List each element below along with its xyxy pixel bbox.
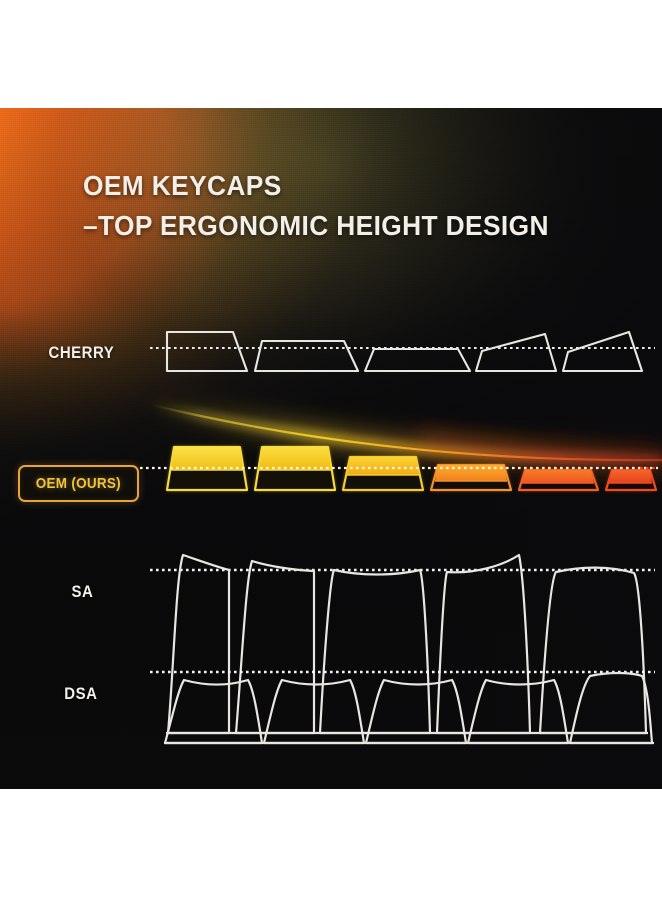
row-label-sa: SA xyxy=(71,582,93,602)
keycap-sa-5 xyxy=(540,568,646,733)
row-label-cherry: CHERRY xyxy=(48,343,114,363)
keycap-sa-1 xyxy=(168,555,229,733)
keycap-oem-3 xyxy=(343,457,423,490)
keycap-sa-2 xyxy=(236,561,314,733)
keycap-oem-5 xyxy=(519,470,598,490)
keycap-cherry-2 xyxy=(255,341,358,371)
keycap-profile-diagram xyxy=(0,108,662,789)
keycap-cherry-4 xyxy=(476,334,556,371)
keycap-oem-6 xyxy=(606,470,656,490)
keycap-cherry-1 xyxy=(167,332,247,371)
row-label-oem-box: OEM (OURS) xyxy=(18,465,139,502)
row-label-oem: OEM (OURS) xyxy=(36,475,121,492)
keycap-sa-4 xyxy=(437,555,530,733)
keycap-cherry-5 xyxy=(563,332,642,371)
row-label-dsa: DSA xyxy=(64,684,97,704)
product-image-canvas: OEM KEYCAPS –TOP ERGONOMIC HEIGHT DESIGN xyxy=(0,0,662,903)
keycap-comparison-image: OEM KEYCAPS –TOP ERGONOMIC HEIGHT DESIGN xyxy=(0,108,662,789)
keycap-cherry-3 xyxy=(365,349,470,371)
profile-row-cherry xyxy=(150,332,655,371)
